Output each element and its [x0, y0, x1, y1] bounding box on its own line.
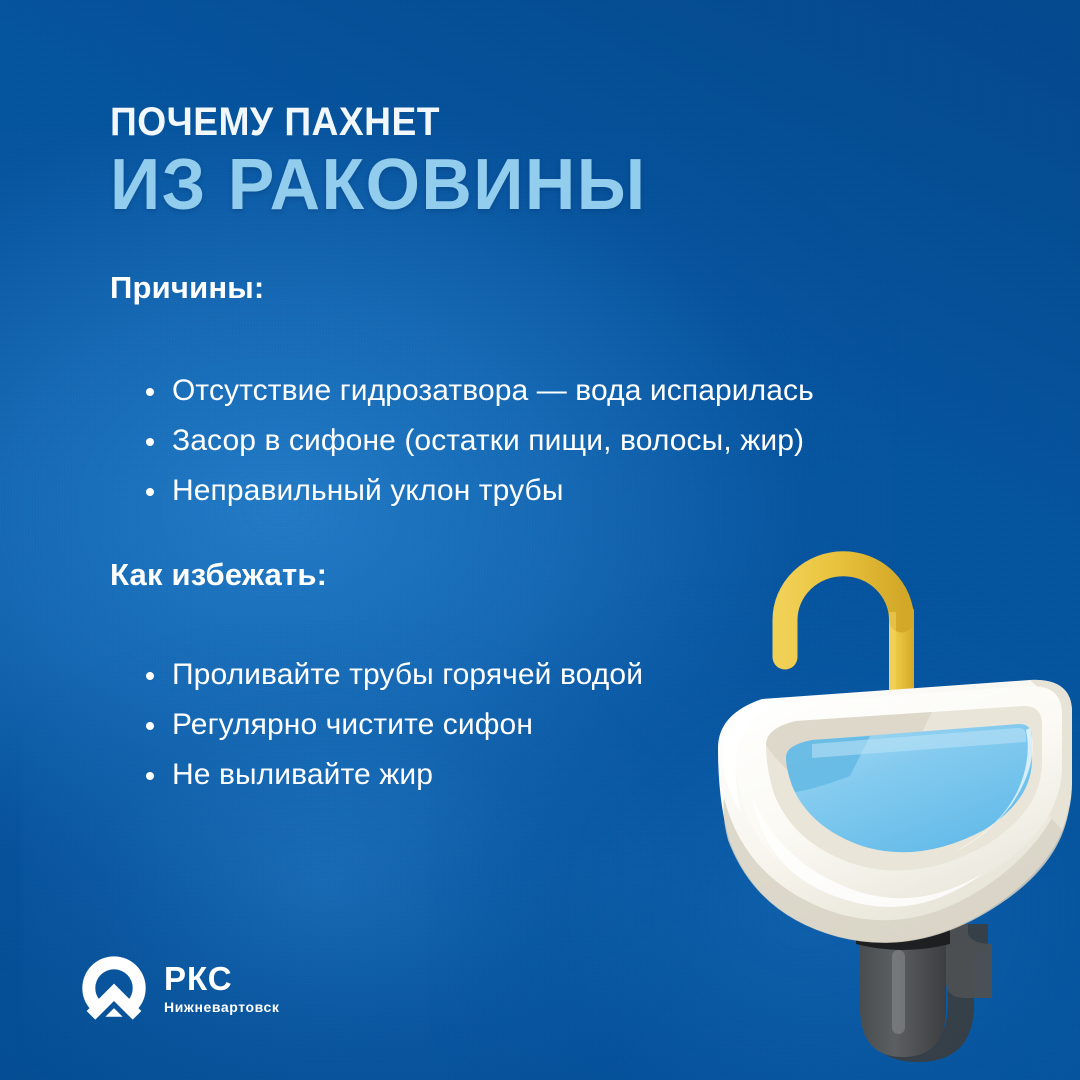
list-item: Засор в сифоне (остатки пищи, волосы, жи… — [140, 416, 960, 466]
causes-list: Отсутствие гидрозатвора — вода испарилас… — [140, 366, 960, 516]
list-item-label: Регулярно чистите сифон — [172, 708, 533, 741]
logo-text-block: РКС Нижневартовск — [164, 962, 280, 1015]
sink-illustration — [700, 552, 1080, 1080]
rks-arch-chevron-icon — [78, 952, 150, 1024]
headline-block: ПОЧЕМУ ПАХНЕТ ИЗ РАКОВИНЫ — [110, 100, 930, 224]
poster: ПОЧЕМУ ПАХНЕТ ИЗ РАКОВИНЫ Причины: Отсут… — [0, 0, 1080, 1080]
bullet-dot-icon — [146, 672, 154, 680]
list-item-label: Не выливайте жир — [172, 758, 433, 791]
bullet-dot-icon — [146, 388, 154, 396]
sink-basin — [718, 680, 1072, 943]
bullet-dot-icon — [146, 438, 154, 446]
list-item: Регулярно чистите сифон — [140, 700, 780, 750]
list-item: Отсутствие гидрозатвора — вода испарилас… — [140, 366, 960, 416]
bullet-dot-icon — [146, 488, 154, 496]
section-label-causes: Причины: — [110, 270, 264, 306]
bullet-dot-icon — [146, 772, 154, 780]
list-item-label: Проливайте трубы горячей водой — [172, 658, 643, 691]
list-item: Не выливайте жир — [140, 750, 780, 800]
logo-title: РКС — [164, 962, 280, 995]
faucet-spout-curve — [785, 564, 902, 657]
logo-chevron-small — [105, 1008, 122, 1017]
avoid-list: Проливайте трубы горячей водой Регулярно… — [140, 650, 780, 800]
brand-logo[interactable]: РКС Нижневартовск — [78, 952, 280, 1024]
list-item-label: Засор в сифоне (остатки пищи, волосы, жи… — [172, 424, 804, 457]
bullet-dot-icon — [146, 722, 154, 730]
section-label-avoid: Как избежать: — [110, 557, 327, 593]
list-item-label: Отсутствие гидрозатвора — вода испарилас… — [172, 374, 814, 407]
poster-content: ПОЧЕМУ ПАХНЕТ ИЗ РАКОВИНЫ Причины: Отсут… — [0, 0, 1080, 1080]
siphon-highlight — [892, 950, 905, 1034]
sink-illustration-svg — [700, 552, 1080, 1080]
list-item-label: Неправильный уклон трубы — [172, 474, 563, 507]
logo-subtitle: Нижневартовск — [164, 999, 280, 1015]
list-item: Проливайте трубы горячей водой — [140, 650, 780, 700]
headline-line-2: ИЗ РАКОВИНЫ — [110, 146, 905, 224]
list-item: Неправильный уклон трубы — [140, 466, 960, 516]
headline-line-1: ПОЧЕМУ ПАХНЕТ — [110, 100, 873, 144]
